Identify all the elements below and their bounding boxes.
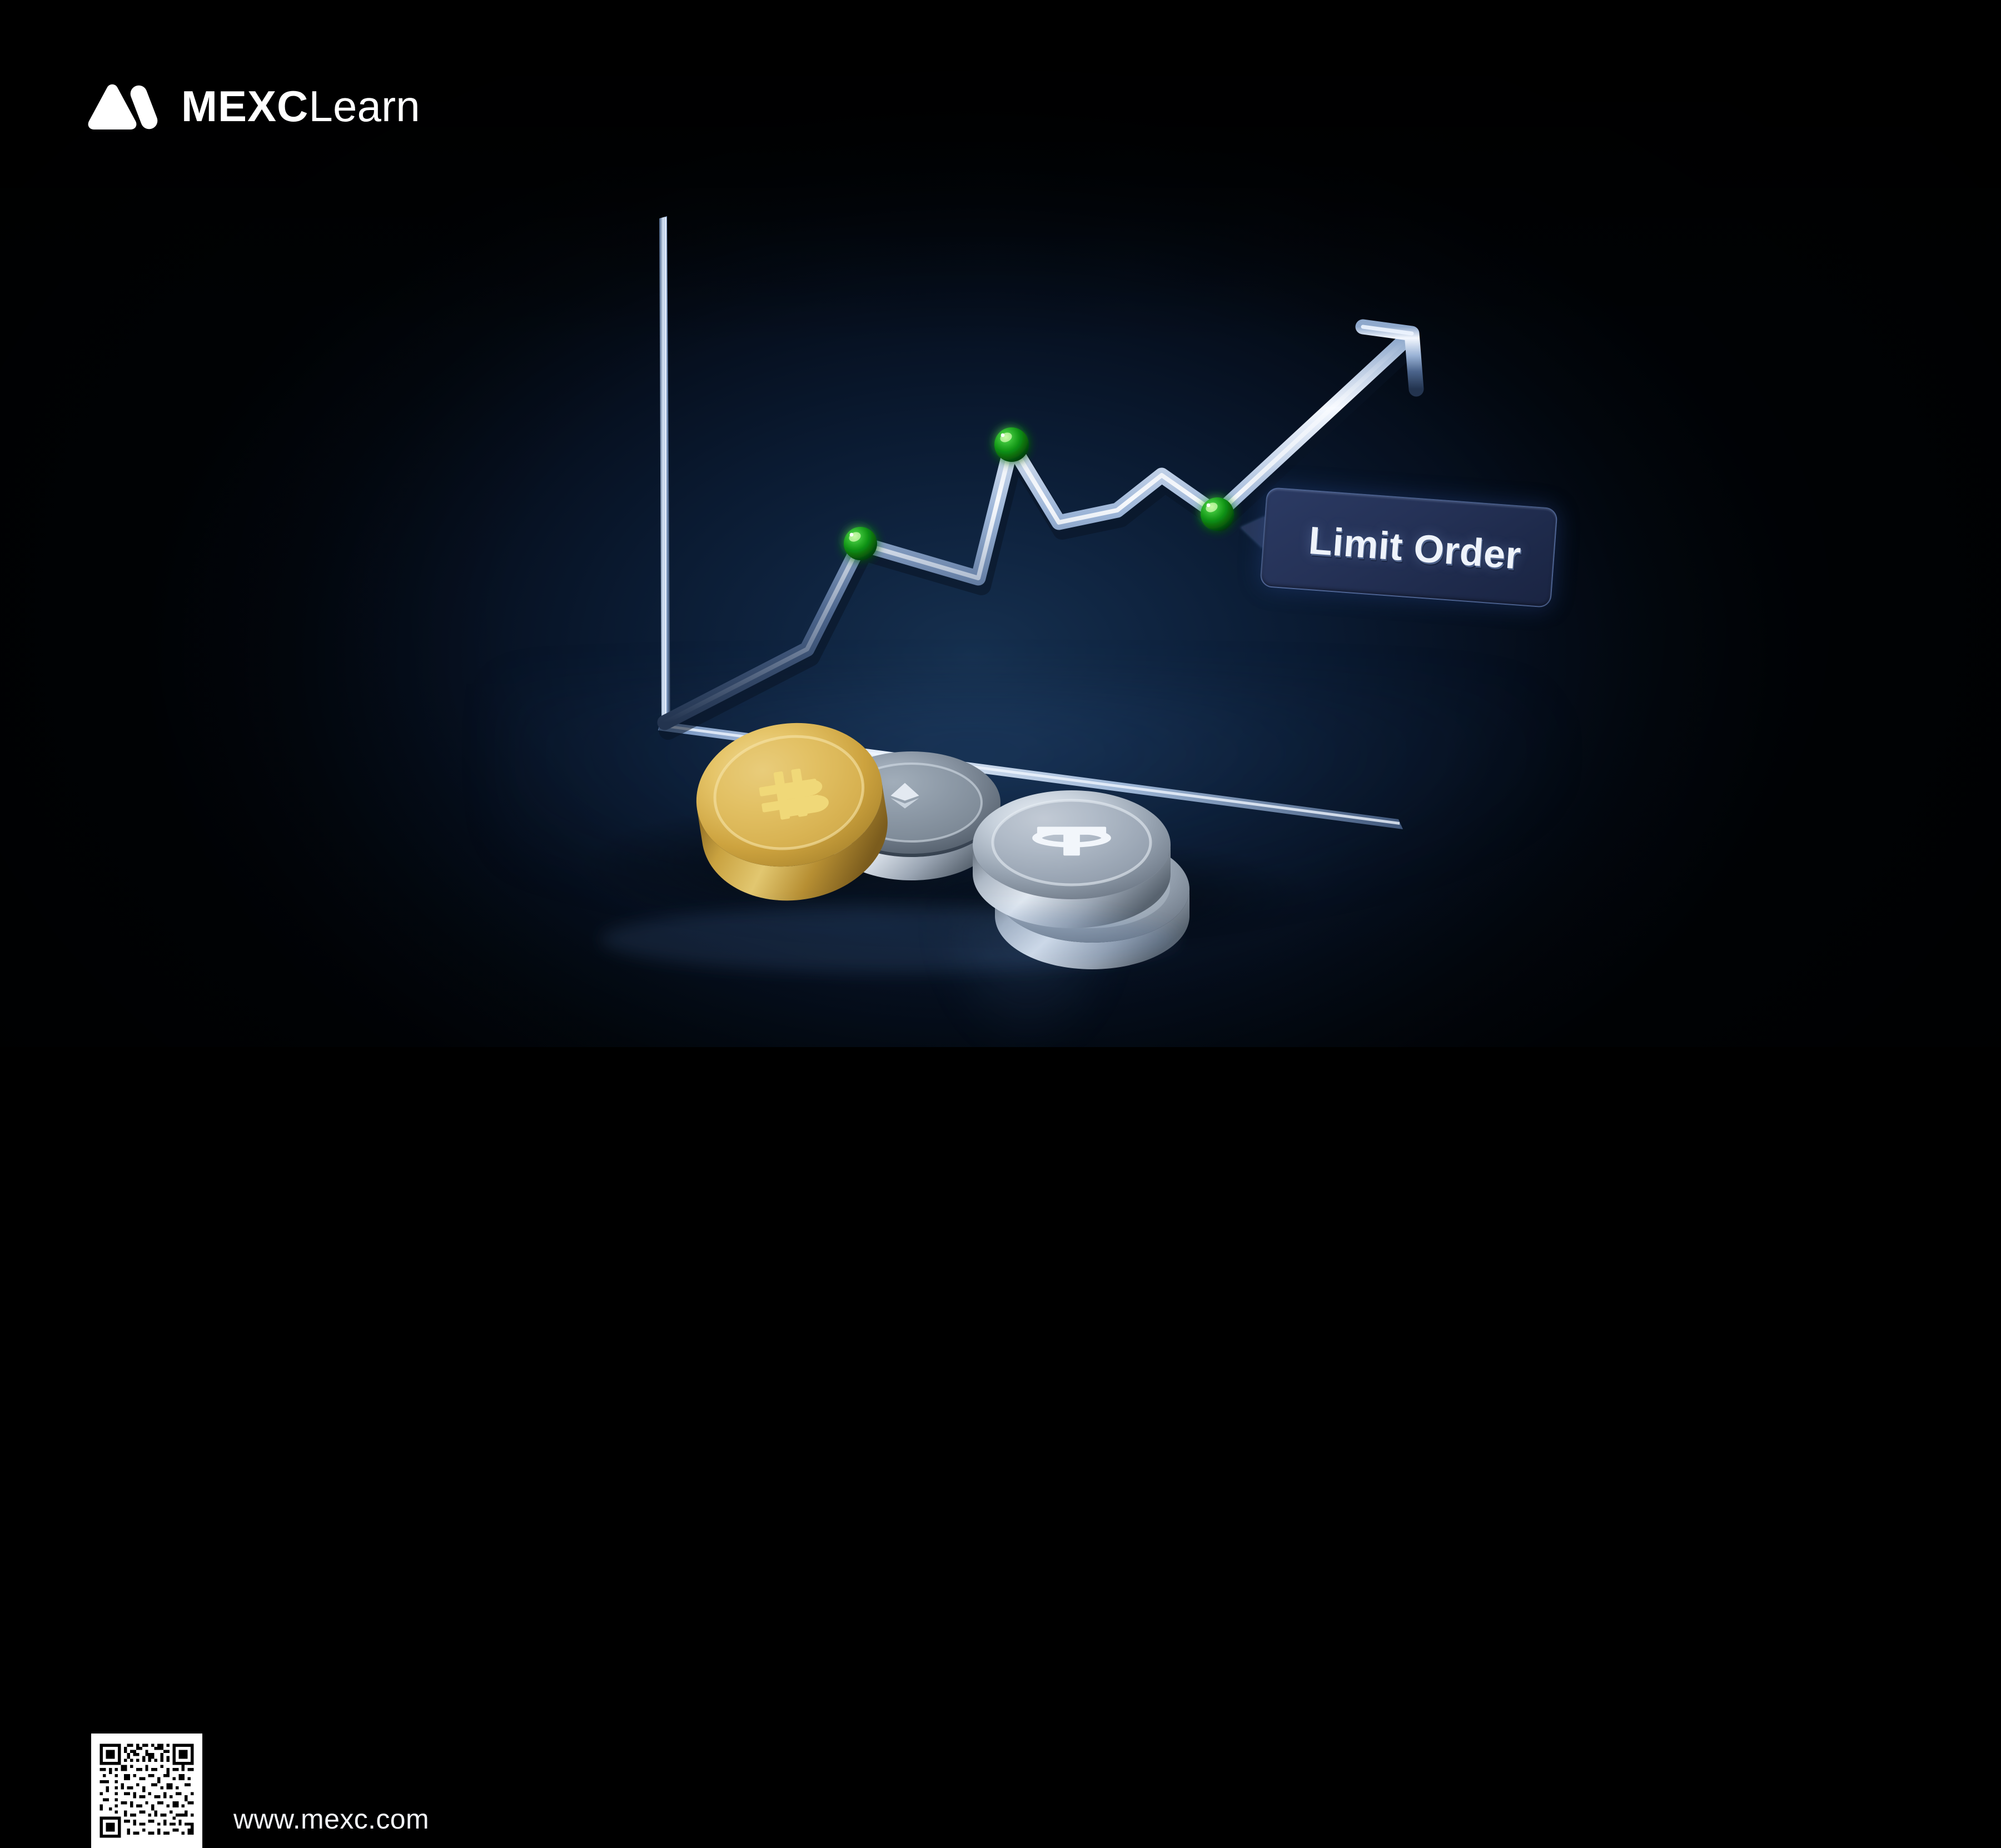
qr-code[interactable]: [91, 1734, 202, 1848]
limit-order-callout[interactable]: Limit Order: [1260, 487, 1558, 608]
mexc-triangle-logo-icon: [82, 82, 167, 130]
logo-wordmark: MEXCLearn: [181, 84, 420, 128]
mexc-learn-logo[interactable]: MEXCLearn: [82, 82, 420, 130]
callout-label: Limit Order: [1260, 487, 1558, 608]
data-point-marker[interactable]: [844, 527, 877, 560]
footer: www.mexc.com: [0, 864, 2001, 1047]
data-point-marker[interactable]: [1201, 497, 1234, 531]
logo-brand-text: MEXC: [181, 82, 308, 131]
qr-code-icon: [97, 1739, 197, 1842]
data-point-marker[interactable]: [994, 427, 1029, 462]
y-axis: [659, 216, 670, 723]
site-url-text[interactable]: www.mexc.com: [233, 1803, 429, 1835]
logo-product-text: Learn: [308, 82, 420, 131]
